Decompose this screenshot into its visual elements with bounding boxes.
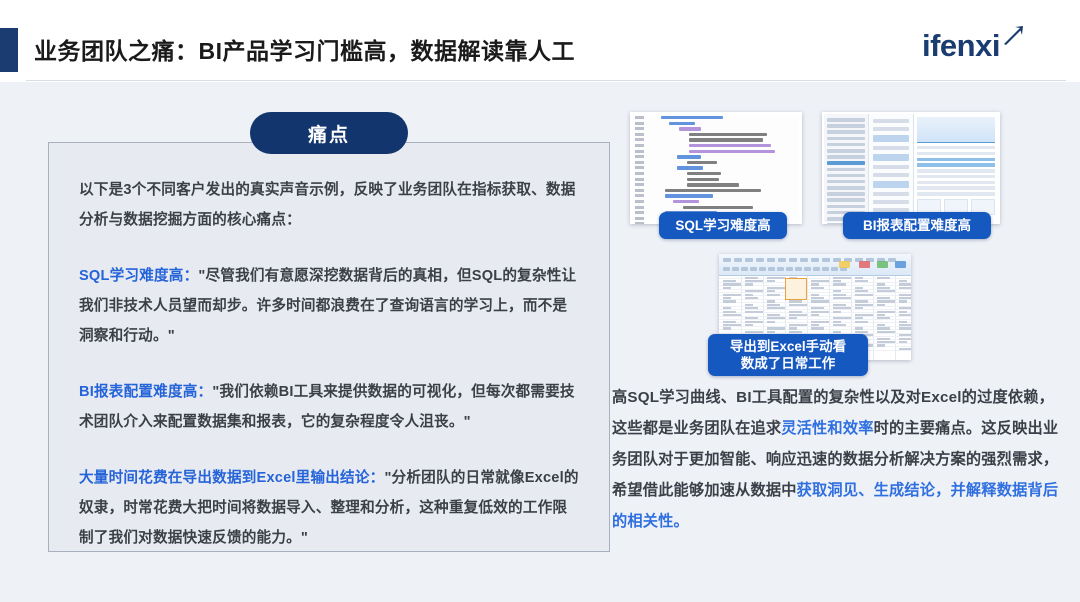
intro-paragraph: 以下是3个不同客户发出的真实声音示例，反映了业务团队在指标获取、数据分析与数据挖… (79, 175, 581, 235)
slide-header: 业务团队之痛：BI产品学习门槛高，数据解读靠人工 ifenxi (0, 0, 1080, 82)
bi-config-pane (869, 114, 914, 222)
bi-data-grid (917, 146, 995, 196)
pain-point-badge: 痛点 (250, 112, 408, 154)
page-title: 业务团队之痛：BI产品学习门槛高，数据解读靠人工 (34, 32, 575, 66)
bi-report-canvas (914, 114, 998, 222)
thumbnail-sql-editor[interactable] (630, 112, 802, 224)
slide-root: 业务团队之痛：BI产品学习门槛高，数据解读靠人工 ifenxi 以下是3个不同客… (0, 0, 1080, 602)
quote-item: SQL学习难度高："尽管我们有意愿深挖数据背后的真相，但SQL的复杂性让我们非技… (79, 261, 581, 351)
logo-arrow-icon (1002, 26, 1026, 48)
header-accent-marker (0, 28, 18, 72)
brand-logo: ifenxi (922, 26, 1032, 70)
thumbnail-bi-report[interactable] (822, 112, 1000, 224)
pain-points-panel: 以下是3个不同客户发出的真实声音示例，反映了业务团队在指标获取、数据分析与数据挖… (48, 142, 610, 552)
thumbnail-label-excel-line1: 导出到Excel手动看 (730, 338, 846, 355)
screenshot-thumbnails: SQL学习难度高 BI报表配置难度高 (615, 104, 1065, 379)
excel-ribbon-mock (719, 254, 911, 276)
quote-lead: BI报表配置难度高： (79, 384, 212, 400)
sql-code-mock (633, 115, 799, 221)
quote-lead: SQL学习难度高： (79, 268, 198, 284)
bi-area-chart (917, 117, 995, 143)
bi-dashboard-mock (824, 114, 998, 222)
quote-lead: 大量时间花费在导出数据到Excel里输出结论： (79, 470, 384, 486)
summary-paragraph: 高SQL学习曲线、BI工具配置的复杂性以及对Excel的过度依赖，这些都是业务团… (612, 382, 1068, 537)
thumbnail-label-excel: 导出到Excel手动看 数成了日常工作 (708, 334, 868, 376)
summary-highlight-1: 灵活性和效率 (781, 420, 873, 437)
quote-item: 大量时间花费在导出数据到Excel里输出结论："分析团队的日常就像Excel的奴… (79, 463, 581, 553)
pain-points-content: 以下是3个不同客户发出的真实声音示例，反映了业务团队在指标获取、数据分析与数据挖… (79, 175, 581, 553)
bi-field-tree (824, 114, 869, 222)
header-divider (26, 80, 1066, 81)
brand-logo-text: ifenxi (922, 28, 1000, 64)
thumbnail-label-bi: BI报表配置难度高 (843, 212, 991, 239)
thumbnail-label-sql: SQL学习难度高 (659, 212, 787, 239)
quote-item: BI报表配置难度高："我们依赖BI工具来提供数据的可视化，但每次都需要技术团队介… (79, 377, 581, 437)
thumbnail-label-excel-line2: 数成了日常工作 (741, 355, 836, 372)
